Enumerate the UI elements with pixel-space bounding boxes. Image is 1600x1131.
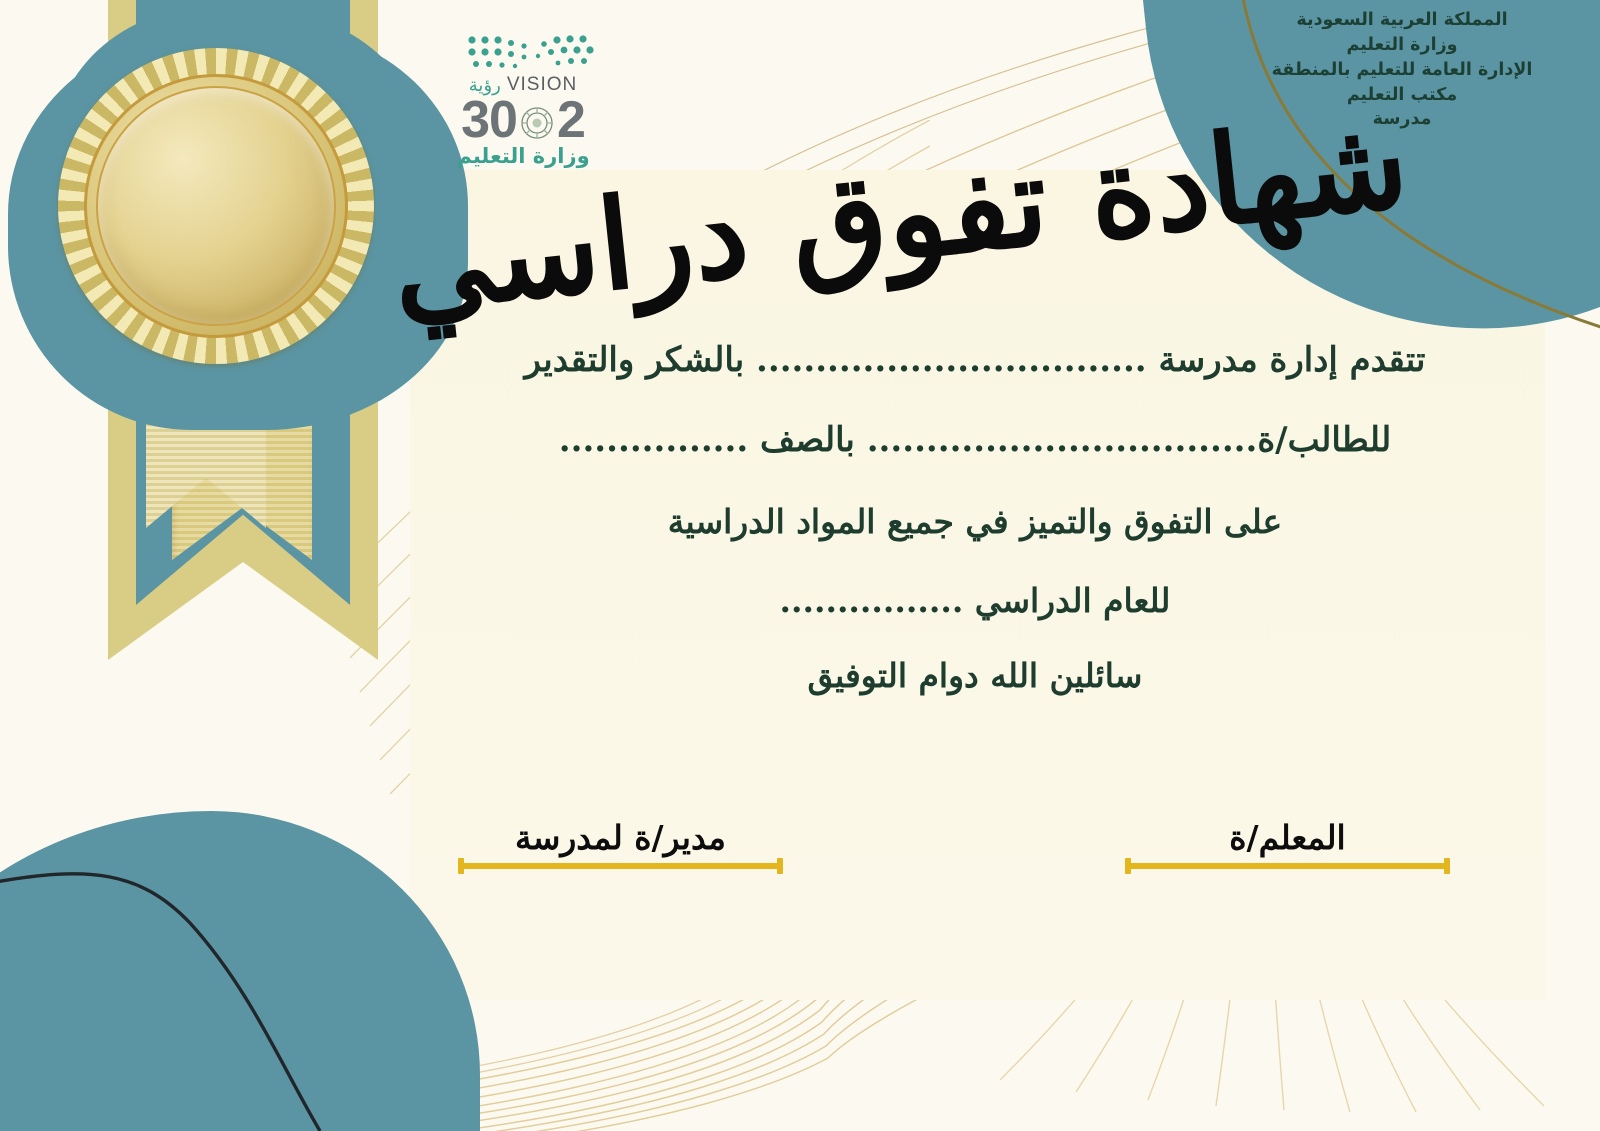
ministry-line-2: الإدارة العامة للتعليم بالمنطقة [1232,58,1572,83]
vision-dot-pattern-icon [466,34,596,74]
rosette-center-disc [96,86,336,326]
signature-principal-line [458,863,783,869]
gold-rosette-medal [58,48,374,364]
certificate-canvas: VISION رؤية 2 [0,0,1600,1131]
ministry-header: المملكة العربية السعودية وزارة التعليم ا… [1232,8,1572,132]
certificate-body: تتقدم إدارة مدرسة ......................… [420,340,1530,695]
signature-teacher-label: المعلم/ة [1125,818,1450,857]
ministry-line-3: مكتب التعليم [1232,83,1572,108]
body-line-3: على التفوق والتميز في جميع المواد الدراس… [420,502,1530,541]
certificate-title: شهادة تفوق دراسي [540,96,1260,336]
body-line-4: للعام الدراسي ................ [420,581,1530,620]
body-line-5: سائلين الله دوام التوفيق [420,656,1530,695]
signature-teacher-line [1125,863,1450,869]
dark-curve-bottom-left [0,831,560,1131]
signature-principal-label: مدير/ة لمدرسة [458,818,783,857]
signature-teacher: المعلم/ة [1125,818,1450,869]
ministry-line-0: المملكة العربية السعودية [1232,8,1572,33]
body-line-1: تتقدم إدارة مدرسة ......................… [420,340,1530,380]
signature-principal: مدير/ة لمدرسة [458,818,783,869]
body-line-2: للطالب/ة................................… [420,420,1530,460]
ministry-line-1: وزارة التعليم [1232,33,1572,58]
ministry-line-4: مدرسة [1232,107,1572,132]
